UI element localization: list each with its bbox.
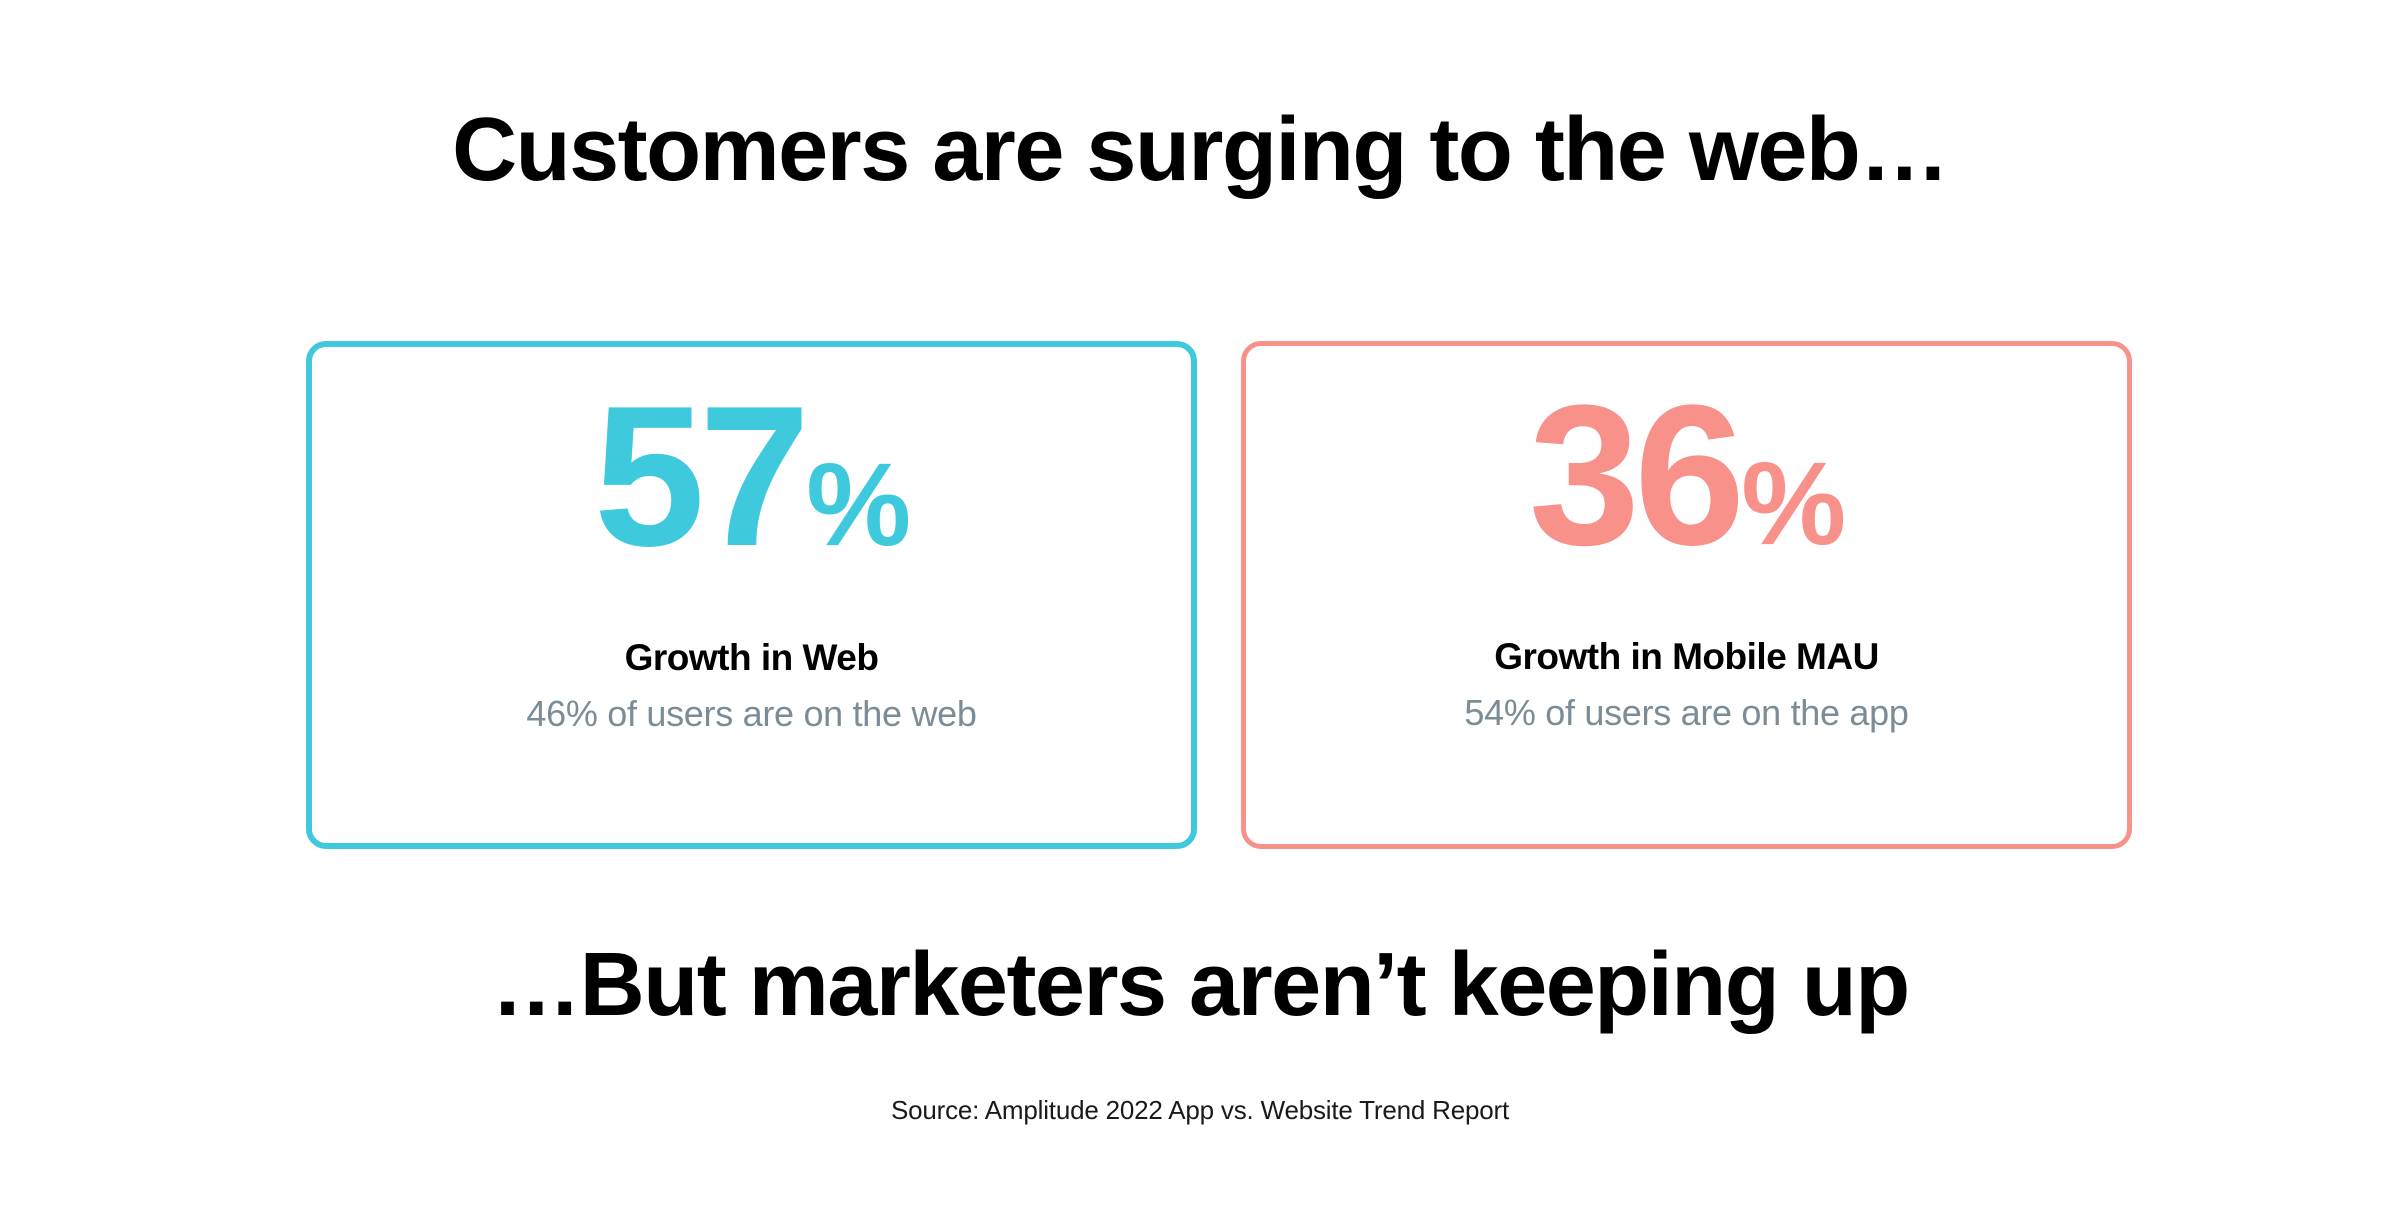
stat-label-web: Growth in Web [625,639,879,676]
stat-value-mobile: 36% [1529,376,1844,576]
headline-bottom: …But marketers aren’t keeping up [0,940,2400,1030]
stat-card-web: 57% Growth in Web 46% of users are on th… [306,341,1197,849]
stat-value-web: 57% [594,377,909,577]
stat-number-web: 57 [594,377,804,577]
stat-unit-mobile: % [1741,445,1844,563]
stat-label-mobile: Growth in Mobile MAU [1494,638,1879,675]
source-citation: Source: Amplitude 2022 App vs. Website T… [0,1095,2400,1126]
slide-canvas: Customers are surging to the web… 57% Gr… [0,0,2400,1210]
stat-card-mobile: 36% Growth in Mobile MAU 54% of users ar… [1241,341,2132,849]
stat-sub-mobile: 54% of users are on the app [1464,695,1908,731]
stat-card-row: 57% Growth in Web 46% of users are on th… [306,341,2132,849]
stat-unit-web: % [806,446,909,564]
stat-number-mobile: 36 [1529,376,1739,576]
headline-top: Customers are surging to the web… [0,105,2400,195]
stat-sub-web: 46% of users are on the web [526,696,976,732]
